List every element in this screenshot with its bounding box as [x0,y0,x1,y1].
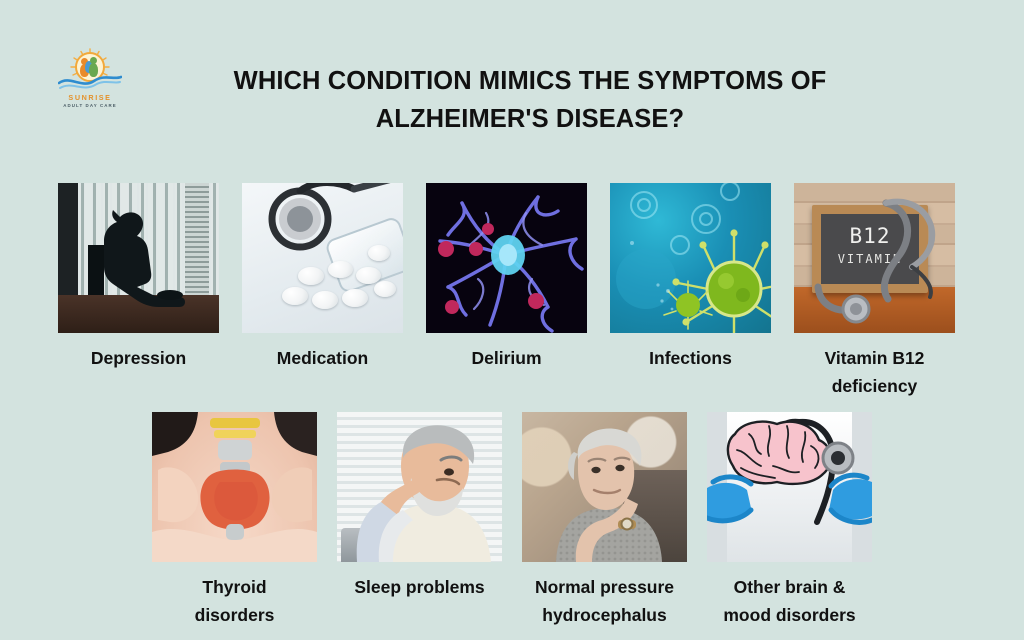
condition-label-delirium: Delirium [471,344,541,372]
infections-image [610,183,771,333]
logo-tagline: ADULT DAY CARE [58,102,122,109]
tired-man-icon [337,412,502,562]
thyroid-image [152,412,317,562]
stethoscope-icon [794,183,955,333]
condition-card-other-brain-mood: Other brain & mood disorders [707,412,872,629]
condition-card-thyroid: Thyroid disorders [152,412,317,629]
glove-right-icon [829,475,872,522]
condition-card-delirium: Delirium [426,183,587,400]
glove-left-icon [707,477,751,521]
condition-label-sleep: Sleep problems [354,573,484,601]
condition-label-infections: Infections [649,344,732,372]
condition-card-infections: Infections [610,183,771,400]
other-brain-mood-image [707,412,872,562]
neuron-network-icon [426,183,587,333]
condition-card-vitamin-b12: B12 VITAMIN Vitamin B12 deficiency [794,183,955,400]
delirium-image [426,183,587,333]
condition-row-1: Depression [58,183,955,400]
virus-particles-icon [610,183,771,333]
vitamin-b12-image: B12 VITAMIN [794,183,955,333]
condition-label-thyroid: Thyroid disorders [195,573,275,629]
condition-card-nph: Normal pressure hydrocephalus [522,412,687,629]
condition-label-other-brain-mood: Other brain & mood disorders [723,573,855,629]
condition-card-depression: Depression [58,183,219,400]
condition-label-nph: Normal pressure hydrocephalus [535,573,674,629]
sunrise-wave-icon [58,48,122,92]
sleep-problems-image [337,412,502,562]
depression-image [58,183,219,333]
page-title-line-2: ALZHEIMER'S DISEASE? [150,100,910,138]
brand-logo: SUNRISE ADULT DAY CARE [58,48,122,110]
condition-card-medication: Medication [242,183,403,400]
person-head-green-icon [90,57,97,64]
condition-label-depression: Depression [91,344,186,372]
logo-brand-name: SUNRISE [58,93,122,102]
medication-image [242,183,403,333]
condition-label-medication: Medication [277,344,368,372]
nph-image [522,412,687,562]
brain-stethoscope-icon [707,412,872,562]
page-title: WHICH CONDITION MIMICS THE SYMPTOMS OF A… [150,62,910,138]
silhouette-person-icon [58,183,219,333]
virus-large [672,229,771,333]
older-woman-icon [522,412,687,562]
infographic-page: SUNRISE ADULT DAY CARE WHICH CONDITION M… [0,0,1024,640]
thyroid-model-icon [152,412,317,562]
page-title-line-1: WHICH CONDITION MIMICS THE SYMPTOMS OF [150,62,910,100]
condition-card-sleep: Sleep problems [337,412,502,629]
condition-row-2: Thyroid disorders [152,412,872,629]
condition-label-vitamin-b12: Vitamin B12 deficiency [825,344,925,400]
wave-icon [58,72,122,92]
